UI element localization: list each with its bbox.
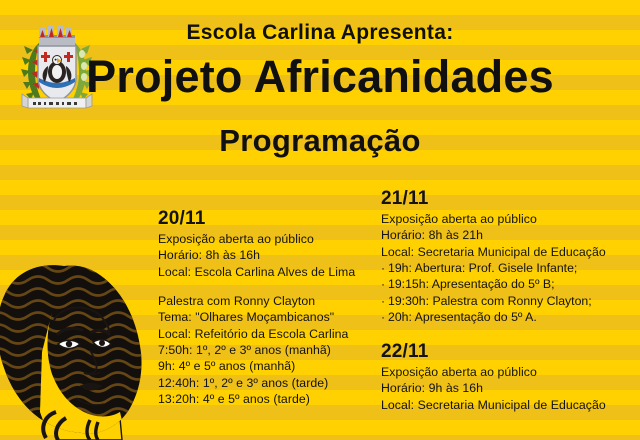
schedule-line: Horário: 9h às 16h xyxy=(381,380,636,396)
bullet-icon: · xyxy=(381,276,388,292)
schedule-block: 21/11 Exposição aberta ao público Horári… xyxy=(381,188,636,325)
schedule-line: 13:20h: 4º e 5º anos (tarde) xyxy=(158,391,373,407)
bullet-icon: · xyxy=(381,309,388,325)
poster-canvas: Escola Carlina Apresenta: Projeto Africa… xyxy=(0,0,640,440)
presenter-line: Escola Carlina Apresenta: xyxy=(0,22,640,43)
schedule-line: Horário: 8h às 16h xyxy=(158,247,373,263)
schedule-line: Local: Secretaria Municipal de Educação xyxy=(381,397,636,413)
schedule-line: 12:40h: 1º, 2º e 3º anos (tarde) xyxy=(158,375,373,391)
schedule-line: Exposição aberta ao público xyxy=(381,364,636,380)
schedule-line: 9h: 4º e 5º anos (manhã) xyxy=(158,358,373,374)
bullet-text: 19:30h: Palestra com Ronny Clayton; xyxy=(388,294,592,308)
date-heading: 21/11 xyxy=(381,188,636,210)
schedule-line: Exposição aberta ao público xyxy=(158,231,373,247)
woman-illustration xyxy=(0,262,158,440)
bullet-icon: · xyxy=(381,293,388,309)
schedule-line: Tema: "Olhares Moçambicanos" xyxy=(158,309,373,325)
schedule-block: 22/11 Exposição aberta ao público Horári… xyxy=(381,341,636,413)
page-title: Projeto Africanidades xyxy=(0,52,640,102)
bullet-icon: · xyxy=(381,260,388,276)
date-heading: 22/11 xyxy=(381,341,636,363)
schedule-line: Horário: 8h às 21h xyxy=(381,227,636,243)
schedule-bullet-item: ·19h: Abertura: Prof. Gisele Infante; xyxy=(381,260,636,276)
bullet-text: 20h: Apresentação do 5º A. xyxy=(388,310,537,324)
schedule-column-right: 21/11 Exposição aberta ao público Horári… xyxy=(381,188,636,413)
spacer xyxy=(158,280,373,293)
schedule-line: Local: Refeitório da Escola Carlina xyxy=(158,326,373,342)
schedule-line: 7:50h: 1º, 2º e 3º anos (manhã) xyxy=(158,342,373,358)
schedule-bullet-item: ·19:30h: Palestra com Ronny Clayton; xyxy=(381,293,636,309)
schedule-block: Palestra com Ronny Clayton Tema: "Olhare… xyxy=(158,293,373,407)
date-heading: 20/11 xyxy=(158,208,373,230)
spacer xyxy=(381,325,636,341)
schedule-line: Local: Escola Carlina Alves de Lima xyxy=(158,264,373,280)
page-subtitle: Programação xyxy=(0,124,640,158)
bullet-text: 19h: Abertura: Prof. Gisele Infante; xyxy=(388,261,577,275)
bullet-text: 19:15h: Apresentação do 5º B; xyxy=(388,277,555,291)
schedule-line: Local: Secretaria Municipal de Educação xyxy=(381,244,636,260)
schedule-line: Exposição aberta ao público xyxy=(381,211,636,227)
schedule-bullet-item: ·20h: Apresentação do 5º A. xyxy=(381,309,636,325)
schedule-line: Palestra com Ronny Clayton xyxy=(158,293,373,309)
schedule-bullet-item: ·19:15h: Apresentação do 5º B; xyxy=(381,276,636,292)
schedule-block: 20/11 Exposição aberta ao público Horári… xyxy=(158,208,373,280)
schedule-column-left: 20/11 Exposição aberta ao público Horári… xyxy=(158,208,373,407)
